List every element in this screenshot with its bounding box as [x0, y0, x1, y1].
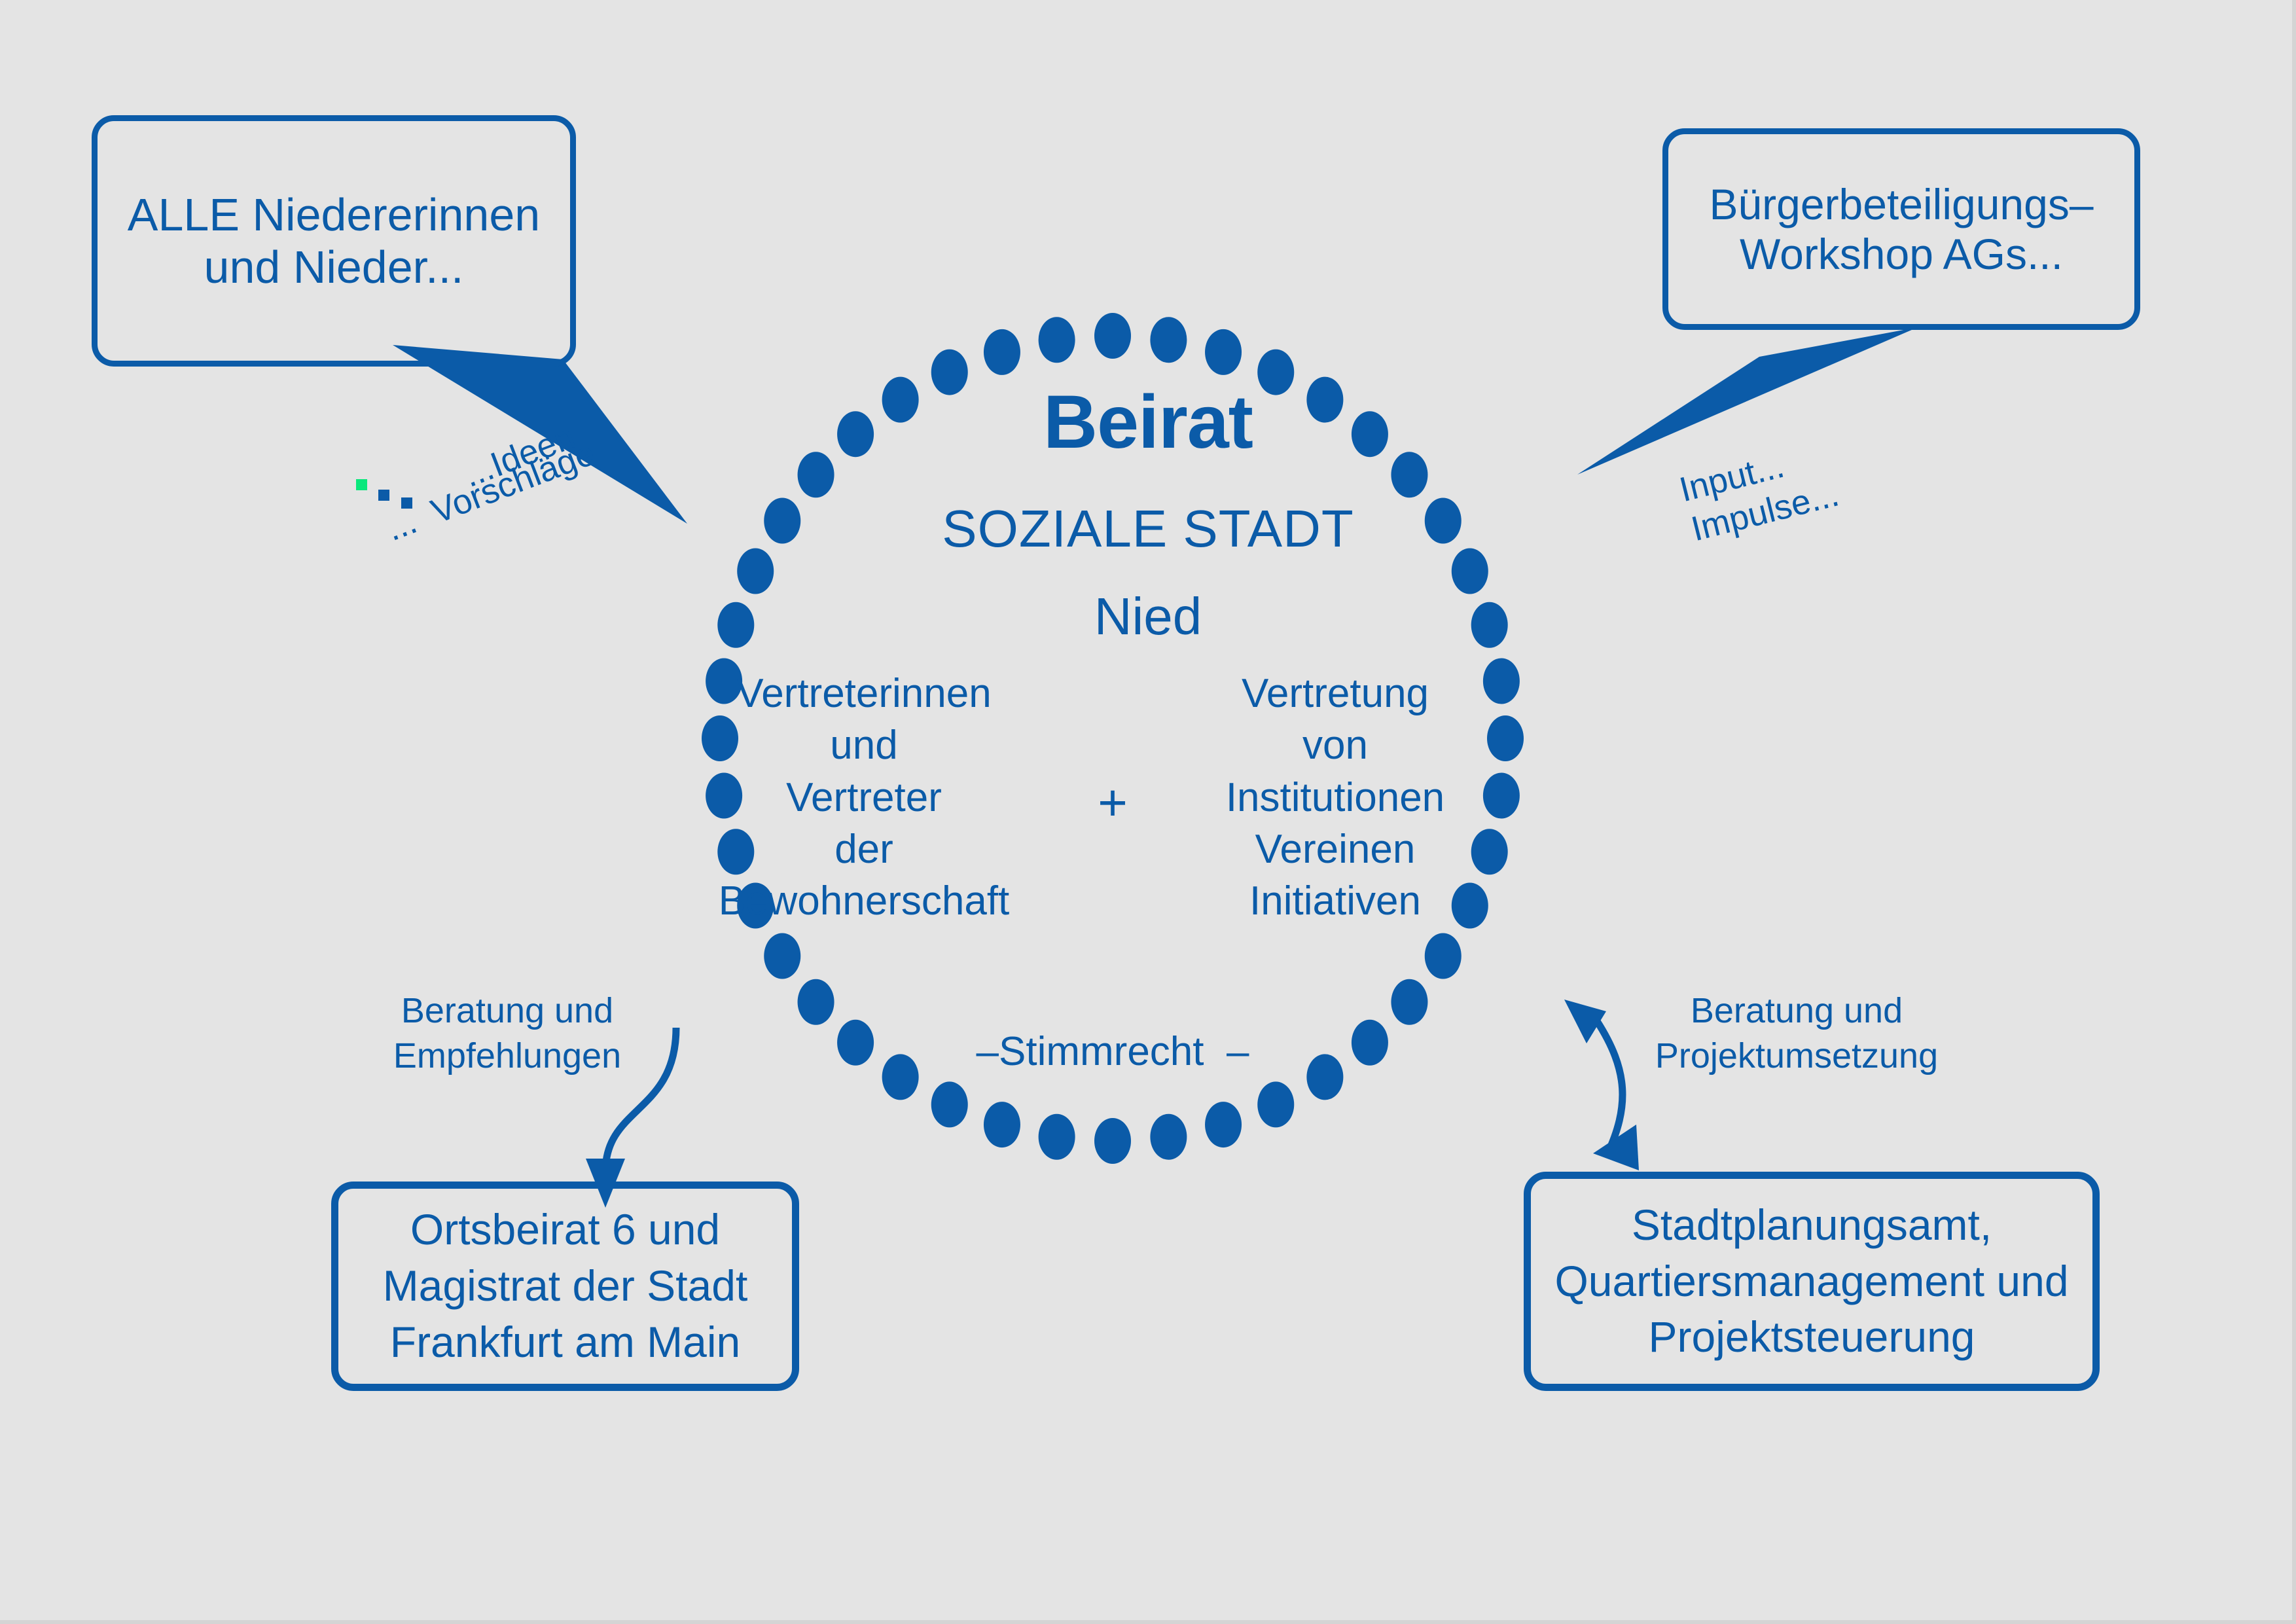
circle-dot [1094, 313, 1131, 359]
circle-dot [931, 1081, 968, 1127]
box-stadtplanungsamt-text: Stadtplanungsamt, Quartiersmanagement un… [1531, 1197, 2092, 1365]
label-beratung-empfehlungen: Beratung und Empfehlungen [376, 988, 638, 1079]
speech-bubble-right[interactable]: Bürgerbeteiligungs– Workshop AGs... [1662, 128, 2140, 330]
label-beratung-projektumsetzung: Beratung und Projektumsetzung [1643, 988, 1950, 1079]
speech-bubble-right-text: Bürgerbeteiligungs– Workshop AGs... [1668, 179, 2134, 279]
circle-dot [1257, 1081, 1294, 1127]
circle-dot [1205, 1102, 1242, 1147]
box-ortsbeirat-magistrat-text: Ortsbeirat 6 und Magistrat der Stadt Fra… [338, 1202, 792, 1370]
right-arrow-head-top [1564, 1000, 1606, 1043]
circle-dot [1425, 933, 1462, 979]
circle-dot [764, 933, 800, 979]
circle-heading: Beirat SOZIALE STADT Nied [0, 353, 2296, 672]
circle-dot [1391, 979, 1427, 1025]
circle-dot [1094, 1118, 1131, 1164]
box-ortsbeirat-magistrat[interactable]: Ortsbeirat 6 und Magistrat der Stadt Fra… [331, 1182, 799, 1391]
plus-sign: + [1073, 772, 1152, 833]
circle-title: Beirat [0, 378, 2296, 467]
circle-right-column: Vertretung von Institutionen Vereinen In… [1172, 668, 1499, 928]
stimmrecht-note: –Stimmrecht – [877, 1028, 1348, 1075]
right-arrow-curve [1597, 1021, 1623, 1155]
circle-dot [837, 1020, 874, 1066]
box-stadtplanungsamt[interactable]: Stadtplanungsamt, Quartiersmanagement un… [1524, 1172, 2100, 1391]
circle-dot [798, 979, 834, 1025]
circle-place: Nied [0, 586, 2296, 647]
speech-bubble-left[interactable]: ALLE Niedererinnen und Nieder... [92, 115, 576, 367]
speech-bubble-left-text: ALLE Niedererinnen und Nieder... [98, 189, 570, 293]
circle-left-column: Vertreterinnen und Vertreter der Bewohne… [694, 668, 1034, 928]
diagram-canvas: ALLE Niedererinnen und Nieder... Bürgerb… [0, 0, 2296, 1624]
circle-dot [1352, 1020, 1388, 1066]
circle-dot [1150, 1114, 1187, 1160]
circle-subtitle: SOZIALE STADT [0, 498, 2296, 560]
circle-dot [1039, 1114, 1075, 1160]
circle-dot [984, 1102, 1020, 1147]
